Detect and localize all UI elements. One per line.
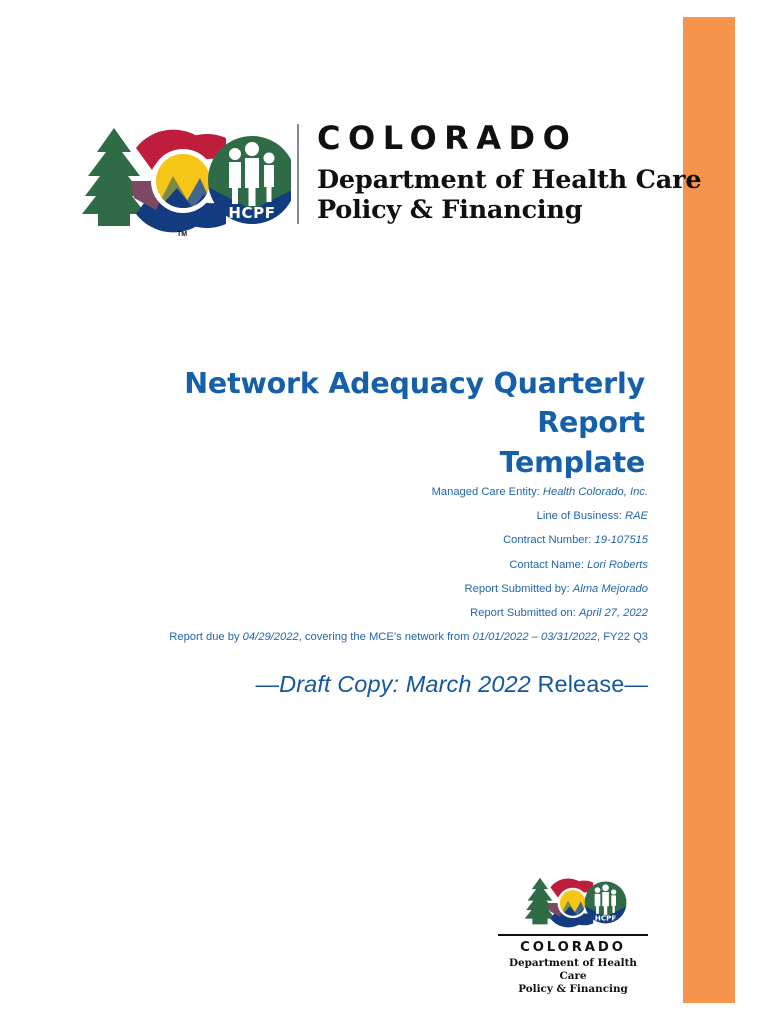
masthead: TM HCPF — [76, 118, 676, 243]
metadata-row-contact-name: Contact Name: Lori Roberts — [120, 553, 648, 577]
draft-trailing: Release — [531, 671, 625, 697]
footer-department-line2: Policy & Financing — [497, 983, 649, 996]
metadata-row-contract-number: Contract Number: 19-107515 — [120, 528, 648, 552]
metadata-row-due-notice: Report due by 04/29/2022, covering the M… — [120, 625, 648, 649]
colorado-hcpf-logo: TM HCPF — [76, 118, 291, 238]
footer-state-word: COLORADO — [497, 940, 649, 955]
metadata-row-report-submitted-on: Report Submitted on: April 27, 2022 — [120, 601, 648, 625]
metadata-row-line-of-business: Line of Business: RAE — [120, 504, 648, 528]
report-metadata: Managed Care Entity: Health Colorado, In… — [120, 480, 648, 649]
draft-trail-dash: — — [624, 671, 648, 697]
masthead-department-name: Department of Health Care Policy & Finan… — [317, 165, 701, 225]
draft-emphasis: Draft Copy: March 2022 — [279, 671, 531, 697]
footer-divider — [498, 934, 648, 936]
metadata-row-report-submitted-by: Report Submitted by: Alma Mejorado — [120, 577, 648, 601]
due-notice-date: 04/29/2022 — [243, 631, 299, 643]
metadata-label: Contact Name: — [509, 559, 584, 571]
masthead-wordmark: COLORADO Department of Health Care Polic… — [317, 122, 701, 225]
metadata-row-managed-care-entity: Managed Care Entity: Health Colorado, In… — [120, 480, 648, 504]
masthead-department-line1: Department of Health Care — [317, 165, 701, 195]
due-notice-prefix: Report due by — [169, 631, 242, 643]
draft-release-notice: —Draft Copy: March 2022 Release— — [120, 671, 648, 698]
metadata-value: Alma Mejorado — [573, 583, 648, 595]
metadata-value: Health Colorado, Inc. — [543, 486, 648, 498]
footer-department-line1: Department of Health Care — [497, 957, 649, 983]
masthead-state-word: COLORADO — [317, 122, 701, 154]
metadata-label: Line of Business: — [537, 510, 622, 522]
pine-tree-icon — [525, 878, 555, 925]
due-notice-suffix: , FY22 Q3 — [597, 631, 648, 643]
draft-lead-dash: — — [256, 671, 280, 697]
due-notice-period: 01/01/2022 – 03/31/2022 — [473, 631, 597, 643]
metadata-value: 19-107515 — [594, 534, 648, 546]
metadata-value: April 27, 2022 — [579, 607, 648, 619]
hcpf-badge-label: HCPF — [595, 914, 616, 923]
footer-logo: HCPF COLORADO Department of Health Care … — [497, 873, 649, 996]
metadata-label: Contract Number: — [503, 534, 591, 546]
footer-department-name: Department of Health Care Policy & Finan… — [497, 957, 649, 996]
metadata-value: RAE — [625, 510, 648, 522]
page-title: Network Adequacy Quarterly Report Templa… — [100, 364, 645, 482]
masthead-divider — [297, 124, 299, 224]
page-title-line2: Template — [100, 443, 645, 482]
hcpf-badge-label: HCPF — [228, 204, 275, 222]
colorado-hcpf-logo-stacked: HCPF — [511, 873, 635, 931]
due-notice-middle: , covering the MCE’s network from — [299, 631, 473, 643]
trademark-symbol: TM — [177, 231, 187, 238]
metadata-label: Report Submitted on: — [470, 607, 576, 619]
masthead-department-line2: Policy & Financing — [317, 195, 701, 225]
metadata-label: Report Submitted by: — [465, 583, 570, 595]
metadata-value: Lori Roberts — [587, 559, 648, 571]
page-title-line1: Network Adequacy Quarterly Report — [100, 364, 645, 443]
metadata-label: Managed Care Entity: — [432, 486, 540, 498]
